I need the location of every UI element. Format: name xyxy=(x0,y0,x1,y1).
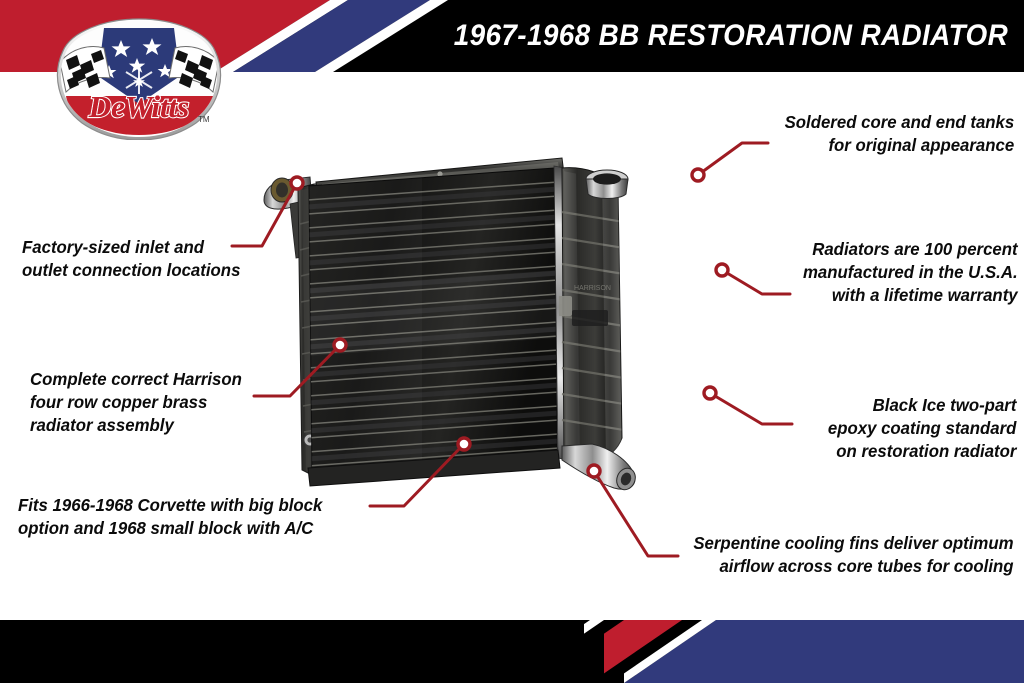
footer-banner xyxy=(0,620,1024,683)
footer-navy-stripe xyxy=(624,620,1024,683)
svg-text:HARRISON: HARRISON xyxy=(574,285,611,292)
callout-factory-connections: Factory-sized inlet and outlet connectio… xyxy=(22,236,240,282)
callout-fitment: Fits 1966-1968 Corvette with big block o… xyxy=(18,494,322,540)
radiator-filler-neck xyxy=(586,170,628,199)
page-title: 1967-1968 BB RESTORATION RADIATOR xyxy=(454,0,1008,72)
radiator-product-image: HARRISON xyxy=(262,138,772,513)
callout-made-in-usa: Radiators are 100 percent manufactured i… xyxy=(803,238,1018,307)
radiator-core xyxy=(308,168,558,474)
callout-harrison-assembly: Complete correct Harrison four row coppe… xyxy=(30,368,242,437)
logo-trademark-icon: TM xyxy=(198,115,210,124)
callout-black-ice-coating: Black Ice two-part epoxy coating standar… xyxy=(827,394,1016,463)
dewitts-logo[interactable]: DeWitts DeWitts TM xyxy=(52,18,227,140)
callout-serpentine-fins: Serpentine cooling fins deliver optimum … xyxy=(694,532,1014,578)
svg-text:DeWitts: DeWitts xyxy=(88,89,189,124)
callout-soldered-core: Soldered core and end tanks for original… xyxy=(784,111,1014,157)
radiator-right-tank: HARRISON xyxy=(558,168,628,466)
product-feature-diagram: 1967-1968 BB RESTORATION RADIATOR xyxy=(0,0,1024,683)
radiator-outlet-neck xyxy=(562,444,638,493)
